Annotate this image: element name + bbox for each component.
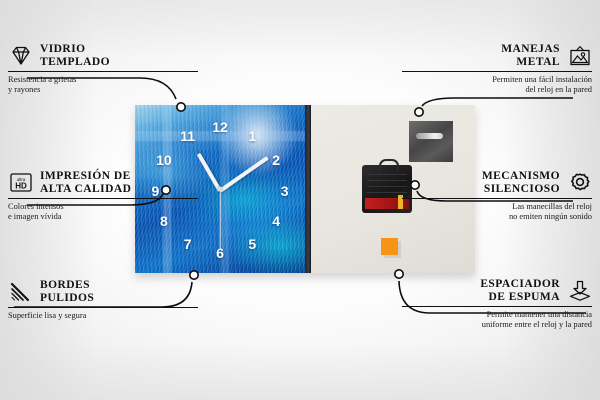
feature-title-line1: MANEJAS: [501, 43, 560, 55]
foam-spacer-part: [381, 238, 398, 255]
feature-title-line1: BORDES: [40, 279, 90, 291]
feature-heading: ESPACIADOR DE ESPUMA: [402, 278, 592, 303]
feature-heading: VIDRIO TEMPLADO: [8, 43, 198, 68]
clock-number: 1: [248, 129, 256, 143]
feature-title-line1: IMPRESIÓN DE: [40, 170, 131, 182]
feature-desc-line1: Resistencia a grietas: [8, 75, 76, 84]
clock-number: 7: [184, 237, 192, 251]
feature-title-line2: ALTA CALIDAD: [40, 183, 131, 195]
feature-desc-line2: del reloj en la pared: [525, 85, 592, 94]
feature-title-line2: SILENCIOSO: [484, 183, 560, 195]
feature-heading: MECANISMO SILENCIOSO: [402, 170, 592, 195]
feature-title-line1: ESPACIADOR: [480, 278, 560, 290]
feature-heading: BORDES PULIDOS: [8, 279, 198, 304]
feature-title: MANEJAS METAL: [501, 43, 560, 68]
hanger-slot: [416, 133, 443, 139]
feature-description: Permite mantener una distancia uniforme …: [402, 310, 592, 330]
feature-title-line1: VIDRIO: [40, 43, 86, 55]
feature-divider: [402, 71, 592, 72]
diamond-icon: [8, 44, 33, 67]
foam-spacer-icon: [567, 279, 592, 302]
feature-title-line2: DE ESPUMA: [489, 291, 560, 303]
feature-title-line2: METAL: [516, 56, 560, 68]
feature-desc-line2: y rayones: [8, 85, 40, 94]
infographic-canvas: 12 1 2 3 4 5 6 7 8 9 10 11: [0, 0, 600, 400]
feature-title: VIDRIO TEMPLADO: [40, 43, 110, 68]
feature-title: IMPRESIÓN DE ALTA CALIDAD: [40, 170, 131, 195]
feature-bordes-pulidos[interactable]: BORDES PULIDOS Superficie lisa y segura: [8, 279, 198, 321]
feature-title-line1: MECANISMO: [482, 170, 560, 182]
clock-number: 2: [272, 153, 280, 167]
feature-heading: MANEJAS METAL: [402, 43, 592, 68]
polished-edge-icon: [8, 280, 33, 303]
clock-number: 3: [281, 184, 289, 198]
feature-description: Resistencia a grietas y rayones: [8, 75, 198, 95]
feature-title-line2: TEMPLADO: [40, 56, 110, 68]
clock-number: 10: [156, 153, 172, 167]
feature-impresion-alta-calidad[interactable]: ultra HD IMPRESIÓN DE ALTA CALIDAD Color…: [8, 170, 198, 222]
feature-desc-line1: Permite mantener una distancia: [487, 310, 592, 319]
feature-espaciador-espuma[interactable]: ESPACIADOR DE ESPUMA Permite mantener un…: [402, 278, 592, 330]
feature-description: Las manecillas del reloj no emiten ningú…: [402, 202, 592, 222]
svg-text:HD: HD: [15, 182, 27, 191]
metal-hanger-part: [409, 121, 453, 162]
feature-divider: [8, 71, 198, 72]
feature-desc-line2: e imagen vívida: [8, 212, 62, 221]
feature-title: ESPACIADOR DE ESPUMA: [480, 278, 560, 303]
picture-hanger-icon: [567, 44, 592, 67]
feature-divider: [402, 198, 592, 199]
feature-vidrio-templado[interactable]: VIDRIO TEMPLADO Resistencia a grietas y …: [8, 43, 198, 95]
feature-divider: [8, 307, 198, 308]
feature-mecanismo-silencioso[interactable]: MECANISMO SILENCIOSO Las manecillas del …: [402, 170, 592, 222]
clock-number: 12: [212, 120, 228, 134]
clock-number: 11: [180, 129, 195, 143]
feature-description: Colores intensos e imagen vívida: [8, 202, 198, 222]
clock-number: 4: [272, 214, 280, 228]
feature-desc-line2: uniforme entre el reloj y la pared: [482, 320, 592, 329]
feature-description: Permiten una fácil instalación del reloj…: [402, 75, 592, 95]
feature-heading: ultra HD IMPRESIÓN DE ALTA CALIDAD: [8, 170, 198, 195]
feature-desc-line1: Colores intensos: [8, 202, 64, 211]
mechanism-vents: [367, 174, 407, 196]
feature-desc-line1: Superficie lisa y segura: [8, 311, 86, 320]
feature-desc-line1: Permiten una fácil instalación: [492, 75, 592, 84]
gear-icon: [567, 171, 592, 194]
feature-manejas-metal[interactable]: MANEJAS METAL Permiten una fácil instala…: [402, 43, 592, 95]
clock-number: 5: [248, 237, 256, 251]
feature-title-line2: PULIDOS: [40, 292, 94, 304]
ultra-hd-icon: ultra HD: [8, 171, 33, 194]
feature-divider: [402, 306, 592, 307]
second-hand: [219, 190, 220, 250]
mechanism-loop: [379, 159, 399, 171]
feature-title: MECANISMO SILENCIOSO: [482, 170, 560, 195]
clock-center-hub: [218, 187, 223, 192]
feature-divider: [8, 198, 198, 199]
feature-desc-line2: no emiten ningún sonido: [509, 212, 592, 221]
feature-title: BORDES PULIDOS: [40, 279, 94, 304]
feature-description: Superficie lisa y segura: [8, 311, 198, 321]
feature-desc-line1: Las manecillas del reloj: [512, 202, 592, 211]
